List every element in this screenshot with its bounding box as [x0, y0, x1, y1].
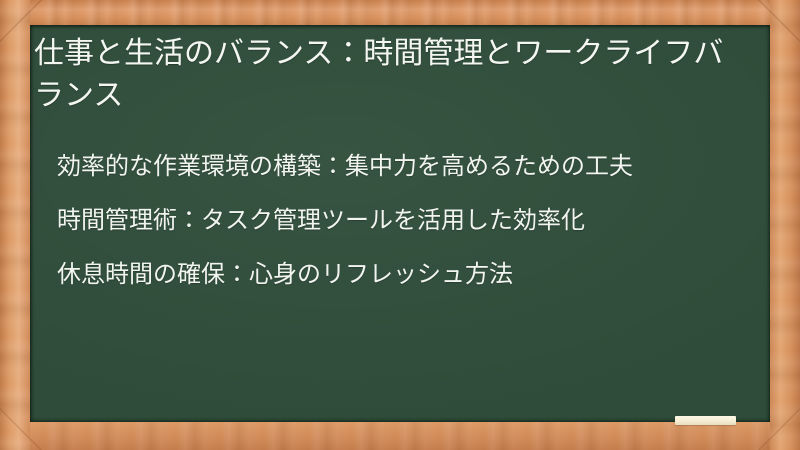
bullet-item-2: 時間管理術：タスク管理ツールを活用した効率化 [57, 201, 747, 241]
bullet-list: 効率的な作業環境の構築：集中力を高めるための工夫 時間管理術：タスク管理ツールを… [57, 147, 747, 295]
chalkboard-slide: 仕事と生活のバランス：時間管理とワークライフバランス 効率的な作業環境の構築：集… [0, 0, 800, 450]
chalkboard-surface: 仕事と生活のバランス：時間管理とワークライフバランス 効率的な作業環境の構築：集… [30, 25, 770, 422]
slide-title: 仕事と生活のバランス：時間管理とワークライフバランス [34, 33, 746, 117]
bullet-item-1: 効率的な作業環境の構築：集中力を高めるための工夫 [57, 147, 747, 187]
chalkboard-content: 仕事と生活のバランス：時間管理とワークライフバランス 効率的な作業環境の構築：集… [30, 25, 770, 422]
frame-rail-top [0, 0, 800, 25]
bullet-item-3: 休息時間の確保：心身のリフレッシュ方法 [57, 255, 747, 295]
frame-stile-left [0, 0, 30, 450]
frame-rail-bottom [0, 422, 800, 450]
frame-stile-right [770, 0, 800, 450]
chalk-stick [675, 416, 736, 425]
